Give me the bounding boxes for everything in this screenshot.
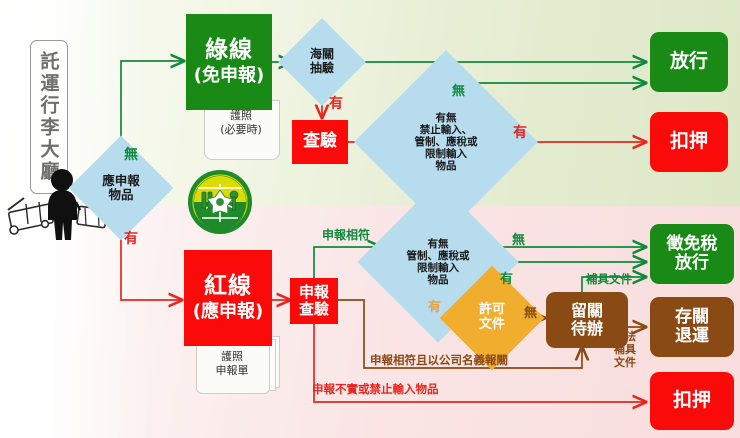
line: (必要時) bbox=[204, 123, 278, 137]
edge-label-sample-yes: 有 bbox=[329, 93, 343, 113]
edge-label-prohibit-no: 無 bbox=[452, 80, 465, 99]
node-release-label: 放行 bbox=[670, 51, 708, 72]
node-store-return[interactable]: 存關 退運 bbox=[650, 297, 734, 357]
node-duty-release[interactable]: 徵免稅 放行 bbox=[650, 224, 734, 284]
edge-label-permit-yes: 有 bbox=[500, 268, 513, 287]
decision-permit-document-label: 許可 文件 bbox=[455, 281, 529, 355]
line: 放行 bbox=[675, 254, 709, 273]
decision-prohibited-goods-label: 有無 禁止輸入、 管制、應稅或 限制輸入 物品 bbox=[381, 77, 511, 207]
line: 物品 bbox=[415, 160, 478, 172]
line: 許可 bbox=[479, 303, 505, 318]
line: 限制輸入 bbox=[415, 148, 478, 160]
line: 應申報 bbox=[102, 174, 140, 188]
node-seize-bottom[interactable]: 扣押 bbox=[650, 372, 734, 430]
line: 文件 bbox=[614, 356, 636, 369]
line: 管制、應稅或 bbox=[407, 250, 470, 262]
node-inspection-label: 查驗 bbox=[303, 132, 337, 151]
decision-permit-document[interactable]: 許可 文件 bbox=[455, 281, 529, 355]
line: 申報 bbox=[299, 284, 329, 301]
decision-declarable-goods[interactable]: 應申報 物品 bbox=[84, 151, 158, 225]
decision-customs-sampling[interactable]: 海關 抽驗 bbox=[291, 31, 353, 93]
line: 禁止輸入、 bbox=[415, 124, 478, 136]
decision-customs-sampling-label: 海關 抽驗 bbox=[291, 31, 353, 93]
line: 限制輸入 bbox=[407, 262, 470, 274]
line: 申報單 bbox=[196, 364, 268, 378]
node-green-lane[interactable]: 綠線 (免申報) bbox=[186, 14, 272, 110]
line: 徵免稅 bbox=[667, 235, 718, 254]
line: 物品 bbox=[102, 188, 140, 202]
edge-label-control-no: 無 bbox=[512, 229, 525, 248]
edge-label-declaration-match: 申報相符 bbox=[322, 226, 370, 243]
edge-label-prohibit-yes: 有 bbox=[513, 122, 527, 142]
node-seize-top[interactable]: 扣押 bbox=[650, 112, 728, 172]
node-red-lane-title: 紅線 bbox=[204, 274, 252, 300]
customs-emblem-icon bbox=[186, 168, 254, 236]
edge-label-yes-declare: 有 bbox=[124, 228, 138, 248]
decision-prohibited-goods[interactable]: 有無 禁止輸入、 管制、應稅或 限制輸入 物品 bbox=[381, 77, 511, 207]
edge-label-control-yes: 有 bbox=[428, 296, 441, 315]
edge-label-no-declare: 無 bbox=[124, 144, 138, 164]
node-green-lane-subtitle: (免申報) bbox=[194, 66, 264, 86]
line: 留關 bbox=[571, 302, 603, 320]
line: 存關 bbox=[675, 308, 709, 327]
edge-label-company-declaration: 申報相符且以公司名義報關 bbox=[370, 352, 508, 368]
node-red-lane-subtitle: (應申報) bbox=[193, 302, 263, 322]
line: 海關 bbox=[310, 48, 334, 62]
node-inspection[interactable]: 查驗 bbox=[292, 120, 348, 164]
line: 有無 bbox=[407, 238, 470, 250]
line: 有無 bbox=[415, 112, 478, 124]
line: 抽驗 bbox=[310, 62, 334, 76]
line: 無法 bbox=[614, 330, 636, 343]
edge-label-permit-no: 無 bbox=[524, 302, 537, 321]
line: 退運 bbox=[675, 327, 709, 346]
flowchart-canvas: 綠線 --> 查驗 --> 放行 --> 扣押 --> 紅線 --> 管制診斷 … bbox=[0, 0, 740, 438]
line: 查驗 bbox=[299, 301, 329, 318]
node-release[interactable]: 放行 bbox=[650, 32, 728, 92]
node-seize-top-label: 扣押 bbox=[670, 131, 708, 152]
line: 管制、應稅或 bbox=[415, 136, 478, 148]
node-declaration-inspection[interactable]: 申報 查驗 bbox=[290, 278, 338, 324]
line: 護照 bbox=[196, 350, 268, 364]
line: 補具 bbox=[614, 343, 636, 356]
line: 待辦 bbox=[571, 320, 603, 338]
line: 護照 bbox=[204, 109, 278, 123]
node-seize-bottom-label: 扣押 bbox=[673, 390, 711, 411]
node-red-lane[interactable]: 紅線 (應申報) bbox=[184, 250, 272, 346]
node-green-lane-title: 綠線 bbox=[205, 38, 253, 64]
edge-label-supplement-docs: 補具文件 bbox=[586, 271, 632, 287]
decision-declarable-goods-label: 應申報 物品 bbox=[84, 151, 158, 225]
edge-label-false-declaration: 申報不實或禁止輸入物品 bbox=[312, 381, 439, 397]
line: 文件 bbox=[479, 318, 505, 333]
edge-label-cannot-supplement: 無法 補具 文件 bbox=[614, 330, 636, 370]
